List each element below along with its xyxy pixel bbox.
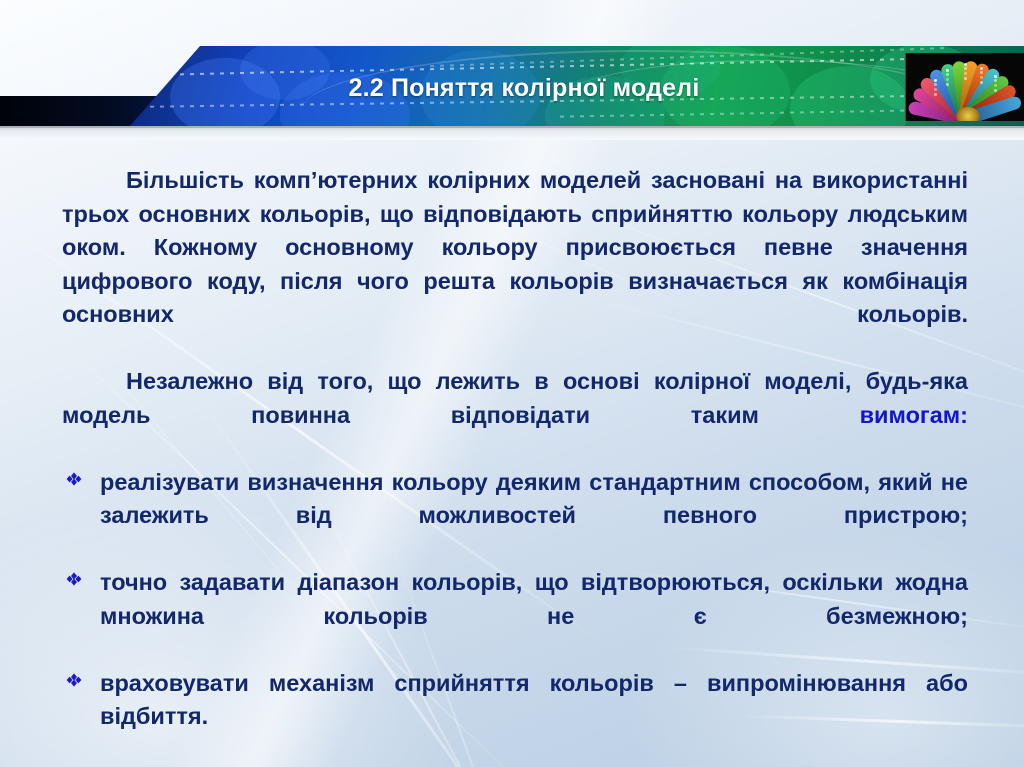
paragraph-2-text: Незалежно від того, що лежить в основі к…: [62, 368, 968, 428]
diamond-bullet-icon: [64, 670, 86, 696]
list-item: точно задавати діапазон кольорів, що від…: [62, 566, 968, 667]
paragraph-2: Незалежно від того, що лежить в основі к…: [62, 365, 968, 466]
list-item-text: враховувати механізм сприйняття кольорів…: [100, 667, 968, 767]
slide-title: 2.2 Поняття колірної моделі: [0, 74, 1024, 103]
highlight-word: вимогам:: [860, 402, 968, 428]
banner-shape: [0, 0, 1024, 126]
list-item-text: точно задавати діапазон кольорів, що від…: [100, 566, 968, 667]
list-item-text: реалізувати визначення кольору деяким ст…: [100, 466, 968, 567]
slide-header-banner: 2.2 Поняття колірної моделі: [0, 0, 1024, 140]
header-divider: [0, 126, 1024, 140]
presentation-slide: 2.2 Поняття колірної моделі Більшість ко…: [0, 0, 1024, 767]
diamond-bullet-icon: [64, 569, 86, 595]
list-item: реалізувати визначення кольору деяким ст…: [62, 466, 968, 567]
paragraph-1: Більшість комп’ютерних колірних моделей …: [62, 164, 968, 365]
list-item: враховувати механізм сприйняття кольорів…: [62, 667, 968, 767]
diamond-bullet-icon: [64, 469, 86, 495]
requirements-list: реалізувати визначення кольору деяким ст…: [62, 466, 968, 767]
slide-body: Більшість комп’ютерних колірних моделей …: [62, 164, 968, 767]
